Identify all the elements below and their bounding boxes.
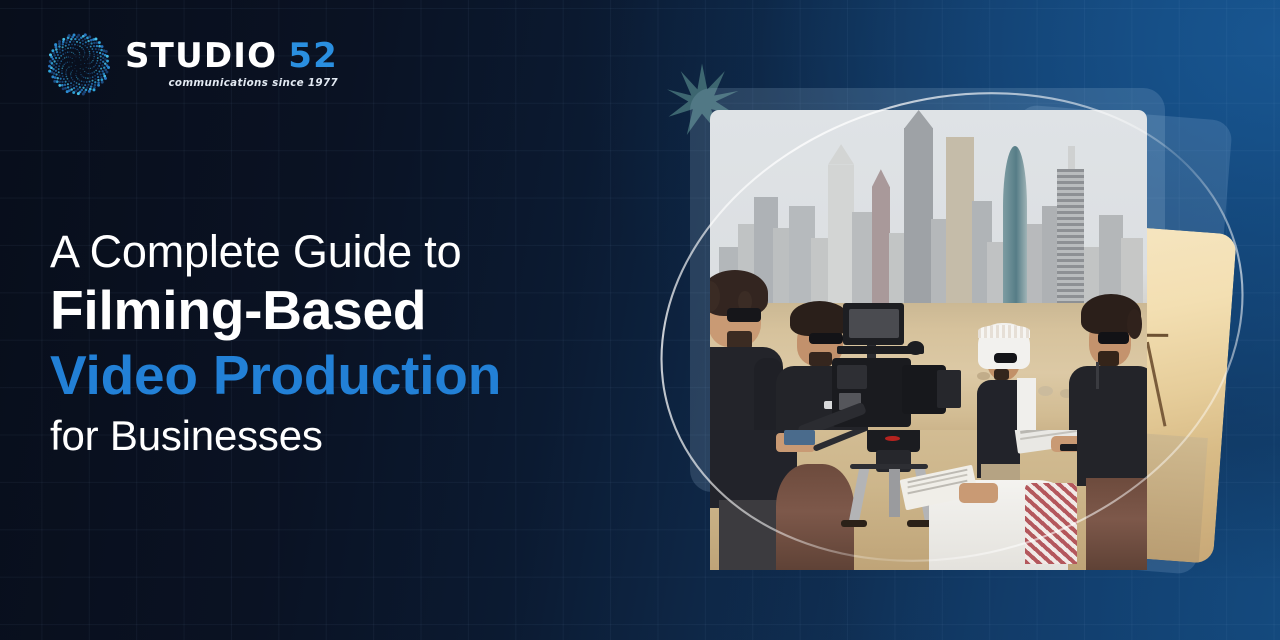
brand-logo-text: STUDIO 52 communications since 1977 [125,39,338,89]
brand-name-primary: STUDIO [125,39,277,73]
studio52-spiral-dots-logo-icon [46,31,112,97]
hero-banner: STUDIO 52 communications since 1977 A Co… [0,0,1280,640]
headline-line-3: Video Production [50,343,670,408]
main-photo-lower-extension [710,430,1147,570]
page-title: A Complete Guide to Filming-Based Video … [50,228,670,462]
main-photo [710,110,1147,455]
headline-line-4: for Businesses [50,410,670,461]
headline-line-1: A Complete Guide to [50,228,670,276]
headline-line-2: Filming-Based [50,278,670,343]
brand-name-accent: 52 [288,39,338,73]
brand-logo[interactable]: STUDIO 52 communications since 1977 [46,31,338,97]
brand-tagline: communications since 1977 [168,77,338,89]
